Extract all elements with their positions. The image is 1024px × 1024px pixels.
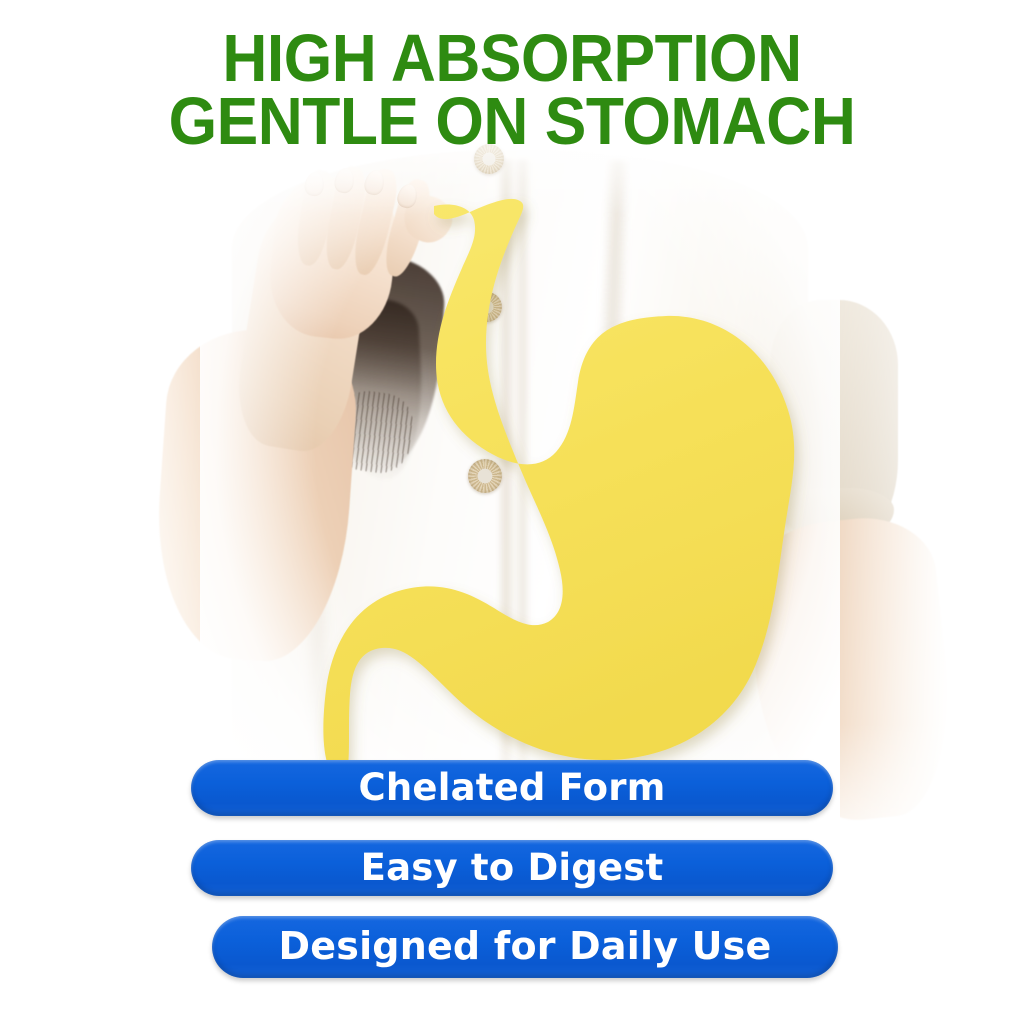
feature-badge-designed-for-daily-use[interactable]: Designed for Daily Use xyxy=(212,916,838,978)
feature-badge-label: Easy to Digest xyxy=(361,846,664,889)
headline-line-1: HIGH ABSORPTION xyxy=(36,28,988,91)
product-banner: HIGH ABSORPTION GENTLE ON STOMACH Chelat… xyxy=(0,0,1024,1024)
stomach-path xyxy=(323,199,794,778)
feature-badge-label: Chelated Form xyxy=(359,766,666,809)
feature-badge-chelated-form[interactable]: Chelated Form xyxy=(191,760,833,816)
feature-badge-easy-to-digest[interactable]: Easy to Digest xyxy=(191,840,833,896)
feature-badge-list: Chelated Form Easy to Digest Designed fo… xyxy=(0,760,1024,978)
feature-badge-label: Designed for Daily Use xyxy=(279,924,772,968)
page-title: HIGH ABSORPTION GENTLE ON STOMACH xyxy=(0,28,1024,154)
headline-line-2: GENTLE ON STOMACH xyxy=(36,91,988,154)
